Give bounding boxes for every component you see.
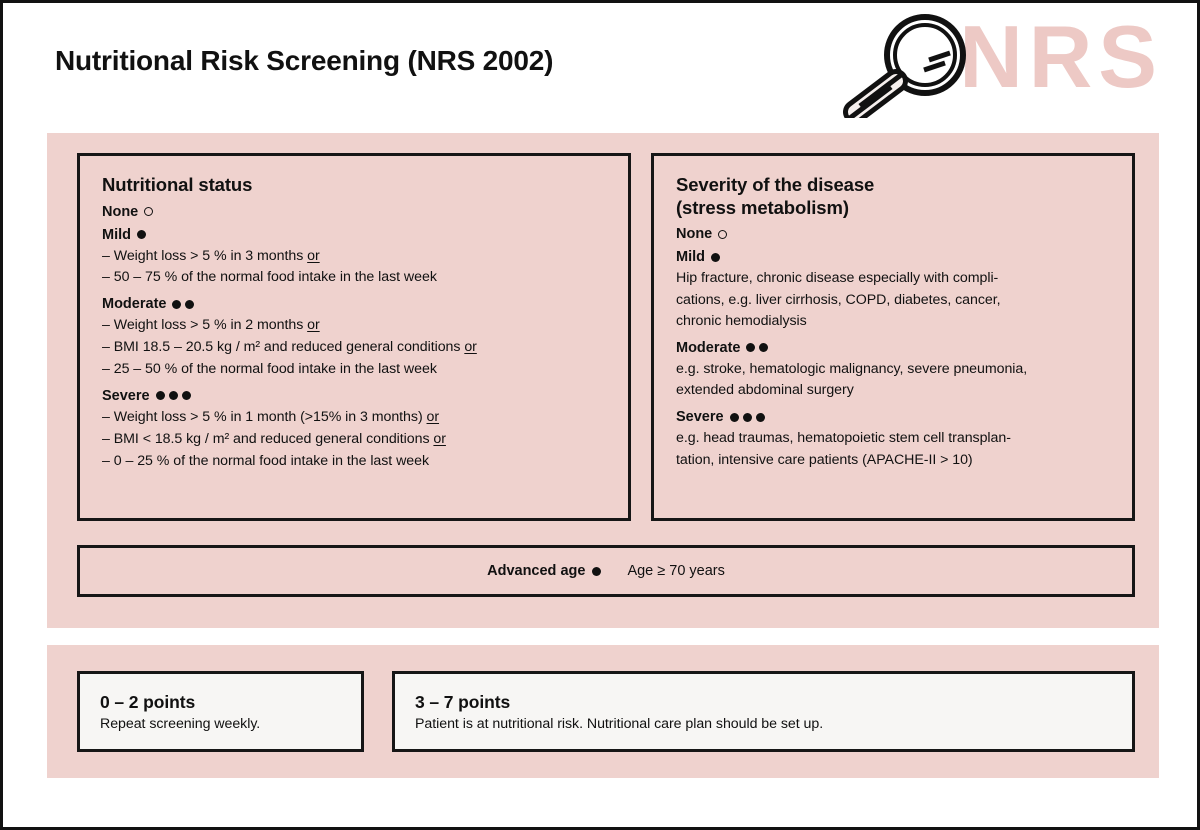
severity-moderate-text: e.g. stroke, hematologic malignancy, sev… [676, 359, 1112, 402]
advanced-age-dots [592, 567, 601, 576]
nutritional-moderate-line-1: – Weight loss > 5 % in 2 months or [102, 315, 608, 337]
nutritional-mild-line-2: – 50 – 75 % of the normal food intake in… [102, 267, 608, 289]
severity-heading-line-1: Severity of the disease [676, 174, 1112, 197]
dot-filled-icon [182, 391, 191, 400]
advanced-age-value: Age ≥ 70 years [627, 563, 724, 579]
panel-advanced-age: Advanced age Age ≥ 70 years [77, 545, 1135, 597]
level-none: None [102, 204, 608, 220]
dot-filled-icon [743, 413, 752, 422]
severity-level-moderate-dots [746, 343, 768, 352]
advanced-age-label: Advanced age [487, 563, 585, 579]
severity-level-mild-label: Mild [676, 249, 705, 265]
severity-moderate-line-2: extended abdominal surgery [676, 380, 1112, 402]
score-high-title: 3 – 7 points [415, 692, 1112, 713]
severity-severe-line-2: tation, intensive care patients (APACHE-… [676, 450, 1112, 472]
dot-filled-icon [185, 300, 194, 309]
document-header: Nutritional Risk Screening (NRS 2002) NR… [3, 3, 1200, 128]
nutritional-mild-line-1: – Weight loss > 5 % in 3 months or [102, 246, 608, 268]
dot-filled-icon [169, 391, 178, 400]
severity-heading: Severity of the disease (stress metaboli… [676, 174, 1112, 219]
nutritional-severe-line-3: – 0 – 25 % of the normal food intake in … [102, 451, 608, 473]
dot-filled-icon [759, 343, 768, 352]
advanced-age-label-group: Advanced age [487, 563, 601, 579]
severity-level-severe-dots [730, 413, 765, 422]
dot-filled-icon [711, 253, 720, 262]
severity-heading-line-2: (stress metabolism) [676, 197, 1112, 220]
dot-filled-icon [172, 300, 181, 309]
severity-level-moderate-label: Moderate [676, 340, 740, 356]
severity-level-moderate: Moderate [676, 340, 1112, 356]
dot-filled-icon [746, 343, 755, 352]
severity-level-none-dots [718, 230, 727, 239]
nutritional-severe-line-2: – BMI < 18.5 kg / m² and reduced general… [102, 429, 608, 451]
nrs-logo: NRS [833, 11, 1163, 121]
level-severe-dots [156, 391, 191, 400]
nutritional-moderate-line-2: – BMI 18.5 – 20.5 kg / m² and reduced ge… [102, 337, 608, 359]
page-title: Nutritional Risk Screening (NRS 2002) [55, 45, 553, 77]
nrs-screening-document: Nutritional Risk Screening (NRS 2002) NR… [0, 0, 1200, 830]
severity-moderate-line-1: e.g. stroke, hematologic malignancy, sev… [676, 359, 1112, 381]
score-low-title: 0 – 2 points [100, 692, 341, 713]
dot-filled-icon [156, 391, 165, 400]
severity-level-severe: Severe [676, 409, 1112, 425]
severity-mild-line-2: cations, e.g. liver cirrhosis, COPD, dia… [676, 290, 1112, 312]
score-high-description: Patient is at nutritional risk. Nutritio… [415, 716, 1112, 732]
severity-level-severe-label: Severe [676, 409, 724, 425]
dot-empty-icon [718, 230, 727, 239]
level-severe: Severe [102, 388, 608, 404]
nutritional-severe-line-1: – Weight loss > 5 % in 1 month (>15% in … [102, 407, 608, 429]
score-box-high: 3 – 7 points Patient is at nutritional r… [392, 671, 1135, 752]
logo-letters: NRS [959, 13, 1163, 101]
score-low-description: Repeat screening weekly. [100, 716, 341, 732]
severity-severe-line-1: e.g. head traumas, hematopoietic stem ce… [676, 428, 1112, 450]
score-box-low: 0 – 2 points Repeat screening weekly. [77, 671, 364, 752]
dot-filled-icon [730, 413, 739, 422]
level-none-dots [144, 207, 153, 216]
severity-level-none-label: None [676, 226, 712, 242]
level-mild-label: Mild [102, 227, 131, 243]
nutritional-status-heading: Nutritional status [102, 174, 608, 197]
severity-level-mild: Mild [676, 249, 1112, 265]
level-mild-dots [137, 230, 146, 239]
level-none-label: None [102, 204, 138, 220]
severity-mild-text: Hip fracture, chronic disease especially… [676, 268, 1112, 333]
magnifier-icon [833, 13, 983, 118]
level-moderate: Moderate [102, 296, 608, 312]
panel-nutritional-status: Nutritional status None Mild – Weight lo… [77, 153, 631, 521]
level-severe-label: Severe [102, 388, 150, 404]
nutritional-moderate-line-3: – 25 – 50 % of the normal food intake in… [102, 359, 608, 381]
severity-mild-line-1: Hip fracture, chronic disease especially… [676, 268, 1112, 290]
level-moderate-dots [172, 300, 194, 309]
dot-filled-icon [137, 230, 146, 239]
severity-severe-text: e.g. head traumas, hematopoietic stem ce… [676, 428, 1112, 471]
severity-level-mild-dots [711, 253, 720, 262]
severity-level-none: None [676, 226, 1112, 242]
panel-severity-of-disease: Severity of the disease (stress metaboli… [651, 153, 1135, 521]
level-mild: Mild [102, 227, 608, 243]
level-moderate-label: Moderate [102, 296, 166, 312]
dot-filled-icon [756, 413, 765, 422]
severity-mild-line-3: chronic hemodialysis [676, 311, 1112, 333]
dot-filled-icon [592, 567, 601, 576]
dot-empty-icon [144, 207, 153, 216]
